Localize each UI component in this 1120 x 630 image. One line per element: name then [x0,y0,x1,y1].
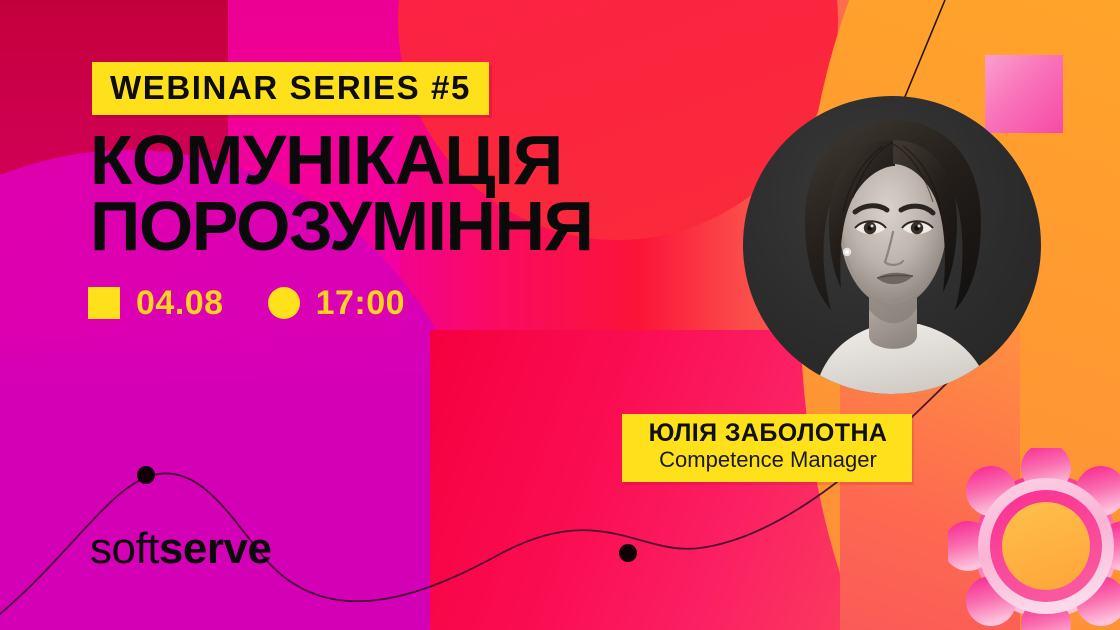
page-title: КОМУНІКАЦІЯ ПОРОЗУМІННЯ [90,128,730,260]
event-date-chip: 04.08 [88,286,224,320]
webinar-poster: WEBINAR SERIES #5 КОМУНІКАЦІЯ ПОРОЗУМІНН… [0,0,1120,630]
speaker-name: ЮЛІЯ ЗАБОЛОТНА [634,420,902,446]
circle-icon [268,287,300,319]
event-time-chip: 17:00 [268,286,405,320]
event-time: 17:00 [316,286,405,320]
event-meta-row: 04.08 17:00 [88,286,405,320]
webinar-series-label: WEBINAR SERIES #5 [110,71,471,104]
speaker-portrait [743,96,1041,400]
curve-dot [619,544,637,562]
webinar-series-badge: WEBINAR SERIES #5 [92,62,489,115]
speaker-role: Competence Manager [634,447,902,473]
logo-part-serve: serve [159,524,272,574]
headline-line-1: КОМУНІКАЦІЯ [90,128,730,194]
headline-line-2: ПОРОЗУМІННЯ [90,194,730,260]
square-icon [88,287,120,319]
curve-dot [137,466,155,484]
avatar [743,96,1041,400]
event-date: 04.08 [136,286,224,320]
speaker-name-banner: ЮЛІЯ ЗАБОЛОТНА Competence Manager [622,414,912,482]
softserve-logo: soft serve [90,524,271,574]
logo-part-soft: soft [90,524,159,574]
